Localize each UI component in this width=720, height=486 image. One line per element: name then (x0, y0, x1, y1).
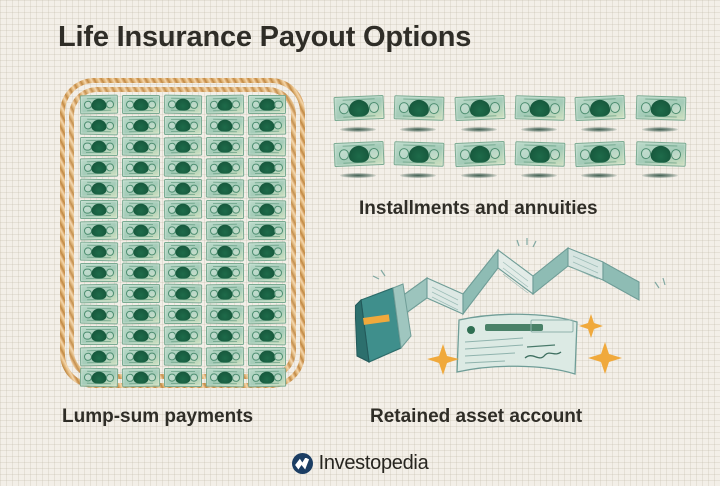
dollar-bill-icon (164, 347, 202, 367)
dollar-bill-icon (635, 95, 686, 121)
dollar-bill-icon (164, 158, 202, 178)
dollar-bill-icon (248, 95, 286, 114)
bill-shadow (400, 173, 436, 178)
dollar-bill-icon (79, 221, 117, 241)
dollar-bill-icon (575, 141, 626, 167)
dollar-bill-icon (206, 326, 244, 345)
installment-bill (636, 96, 688, 140)
dollar-bill-icon (79, 179, 117, 199)
dollar-bill-icon (248, 368, 286, 388)
dollar-bill-icon (206, 263, 244, 282)
dollar-bill-icon (454, 95, 505, 121)
dollar-bill-icon (206, 221, 244, 241)
installment-bill (515, 142, 567, 186)
caption-installments: Installments and annuities (359, 198, 598, 220)
dollar-bill-icon (206, 368, 244, 388)
bill-shadow (581, 173, 617, 178)
bill-shadow (340, 127, 376, 132)
dollar-bill-icon (79, 242, 117, 262)
dollar-bill-icon (206, 200, 244, 219)
dollar-bill-icon (122, 116, 160, 136)
dollar-bill-icon (79, 95, 117, 115)
lump-sum-bill-grid (79, 95, 287, 376)
bill-shadow (461, 173, 497, 178)
dollar-bill-icon (164, 116, 202, 135)
dollar-bill-icon (206, 116, 244, 136)
dollar-bill-icon (79, 347, 117, 367)
dollar-bill-icon (79, 116, 117, 136)
check-icon (457, 314, 577, 374)
dollar-bill-icon (164, 368, 202, 387)
dollar-bill-icon (206, 284, 244, 304)
page-title: Life Insurance Payout Options (58, 21, 471, 54)
dollar-bill-icon (248, 284, 286, 303)
dollar-bill-icon (334, 141, 385, 167)
dollar-bill-icon (164, 284, 202, 304)
dollar-bill-icon (164, 95, 202, 115)
dollar-bill-icon (206, 242, 244, 262)
dollar-bill-icon (206, 179, 244, 199)
bill-shadow (581, 127, 617, 132)
dollar-bill-icon (394, 95, 445, 121)
dollar-bill-icon (164, 326, 202, 346)
dollar-bill-icon (206, 158, 244, 178)
installment-bill (455, 142, 507, 186)
dollar-bill-icon (79, 284, 117, 304)
check-ribbon-icon (391, 248, 639, 324)
installment-bill (636, 142, 688, 186)
installment-bill (575, 142, 627, 186)
dollar-bill-icon (164, 221, 202, 241)
dollar-bill-icon (79, 305, 117, 325)
dollar-bill-icon (164, 179, 202, 198)
dollar-bill-icon (164, 200, 202, 220)
infographic-canvas: Life Insurance Payout Options Lump-sum p… (0, 0, 720, 486)
dollar-bill-icon (248, 179, 286, 199)
checkbook-and-check-drawing (355, 232, 685, 392)
installment-bill (394, 142, 446, 186)
dollar-bill-icon (122, 242, 160, 262)
checkbook-icon (355, 284, 411, 362)
dollar-bill-icon (122, 368, 160, 388)
dollar-bill-icon (248, 326, 286, 346)
dollar-bill-icon (164, 305, 202, 324)
retained-asset-illustration (355, 232, 685, 392)
installment-bill (394, 96, 446, 140)
dollar-bill-icon (394, 141, 445, 167)
dollar-bill-icon (635, 141, 686, 167)
dollar-bill-icon (206, 347, 244, 367)
bill-shadow (521, 127, 557, 132)
dollar-bill-icon (206, 95, 244, 115)
installments-bill-row (330, 96, 692, 188)
installment-bill (515, 96, 567, 140)
dollar-bill-icon (80, 137, 118, 156)
dollar-bill-icon (248, 347, 286, 366)
installment-bill (334, 142, 386, 186)
dollar-bill-icon (248, 242, 286, 262)
dollar-bill-icon (164, 242, 202, 261)
dollar-bill-icon (206, 137, 244, 156)
dollar-bill-icon (515, 95, 566, 121)
dollar-bill-icon (80, 326, 118, 345)
dollar-bill-icon (248, 263, 286, 283)
dollar-bill-icon (454, 141, 505, 167)
dollar-bill-icon (248, 305, 286, 325)
dollar-bill-icon (122, 158, 160, 177)
dollar-bill-icon (248, 221, 286, 240)
caption-retained-asset: Retained asset account (370, 406, 582, 428)
dollar-bill-icon (79, 158, 117, 178)
dollar-bill-icon (122, 326, 160, 346)
caption-lump-sum: Lump-sum payments (62, 406, 253, 428)
dollar-bill-icon (122, 137, 160, 157)
dollar-bill-icon (164, 263, 202, 283)
dollar-bill-icon (575, 95, 626, 121)
dollar-bill-icon (515, 141, 566, 167)
dollar-bill-icon (122, 284, 160, 303)
dollar-bill-icon (122, 200, 160, 220)
dollar-bill-icon (248, 116, 286, 136)
investopedia-logo: Investopedia (0, 452, 720, 475)
bill-shadow (642, 173, 678, 178)
dollar-bill-icon (80, 263, 118, 282)
dollar-bill-icon (248, 200, 286, 220)
installment-bill (575, 96, 627, 140)
installment-bill (455, 96, 507, 140)
bill-shadow (521, 173, 557, 178)
dollar-bill-icon (122, 95, 160, 114)
dollar-bill-icon (122, 263, 160, 283)
investopedia-swoosh-icon (292, 453, 313, 474)
bill-shadow (461, 127, 497, 132)
dollar-bill-icon (248, 158, 286, 177)
dollar-bill-icon (79, 368, 117, 388)
dollar-bill-icon (122, 347, 160, 366)
bill-shadow (400, 127, 436, 132)
brand-name: Investopedia (319, 452, 429, 475)
dollar-bill-icon (248, 137, 286, 157)
dollar-bill-icon (122, 179, 160, 199)
installment-bill (334, 96, 386, 140)
dollar-bill-icon (164, 137, 202, 157)
dollar-bill-icon (334, 95, 385, 121)
bill-shadow (642, 127, 678, 132)
dollar-bill-icon (122, 305, 160, 325)
bill-shadow (340, 173, 376, 178)
dollar-bill-icon (80, 200, 118, 219)
dollar-bill-icon (206, 305, 244, 325)
dollar-bill-icon (122, 221, 160, 240)
